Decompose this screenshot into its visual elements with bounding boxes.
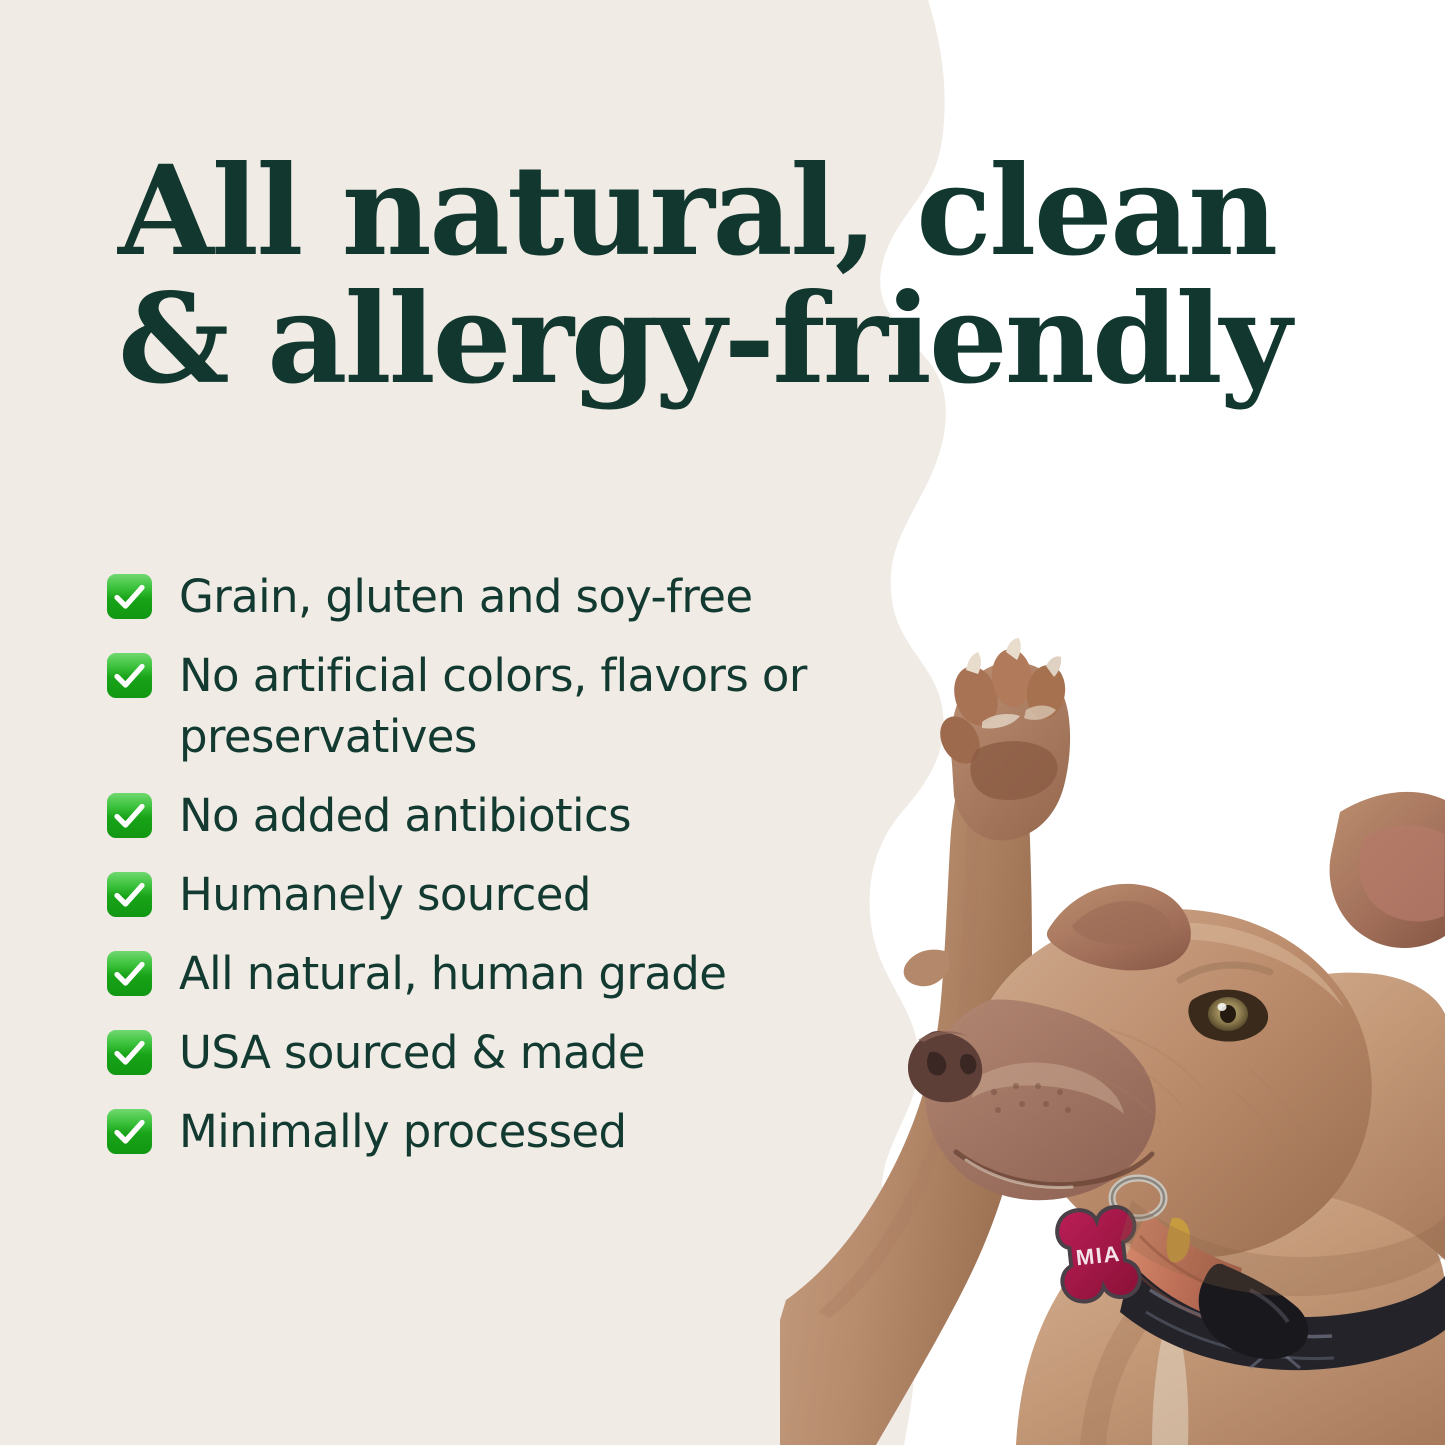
headline: All natural, clean & allergy-friendly (118, 148, 1298, 404)
list-item-label: All natural, human grade (179, 943, 726, 1004)
list-item: Humanely sourced (106, 864, 906, 925)
headline-line-2: & allergy-friendly (118, 276, 1298, 404)
list-item: Grain, gluten and soy-free (106, 566, 906, 627)
list-item: Minimally processed (106, 1101, 906, 1162)
list-item-label: Grain, gluten and soy-free (179, 566, 752, 627)
green-check-box-icon (106, 871, 153, 918)
benefits-checklist: Grain, gluten and soy-free No artificial… (106, 566, 906, 1162)
list-item-label: USA sourced & made (179, 1022, 645, 1083)
list-item: No added antibiotics (106, 785, 906, 846)
headline-line-1: All natural, clean (118, 148, 1298, 276)
dog-paw (932, 638, 1070, 841)
list-item-label: Humanely sourced (179, 864, 591, 925)
green-check-box-icon (106, 652, 153, 699)
list-item-label: Minimally processed (179, 1101, 626, 1162)
list-item-label: No artificial colors, flavors or preserv… (179, 645, 879, 767)
tag-name-text: MIA (1075, 1241, 1122, 1271)
list-item: USA sourced & made (106, 1022, 906, 1083)
list-item-label: No added antibiotics (179, 785, 631, 846)
green-check-box-icon (106, 950, 153, 997)
list-item: All natural, human grade (106, 943, 906, 1004)
green-check-box-icon (106, 1108, 153, 1155)
green-check-box-icon (106, 792, 153, 839)
list-item: No artificial colors, flavors or preserv… (106, 645, 906, 767)
promo-graphic: All natural, clean & allergy-friendly (0, 0, 1445, 1445)
green-check-box-icon (106, 573, 153, 620)
green-check-box-icon (106, 1029, 153, 1076)
